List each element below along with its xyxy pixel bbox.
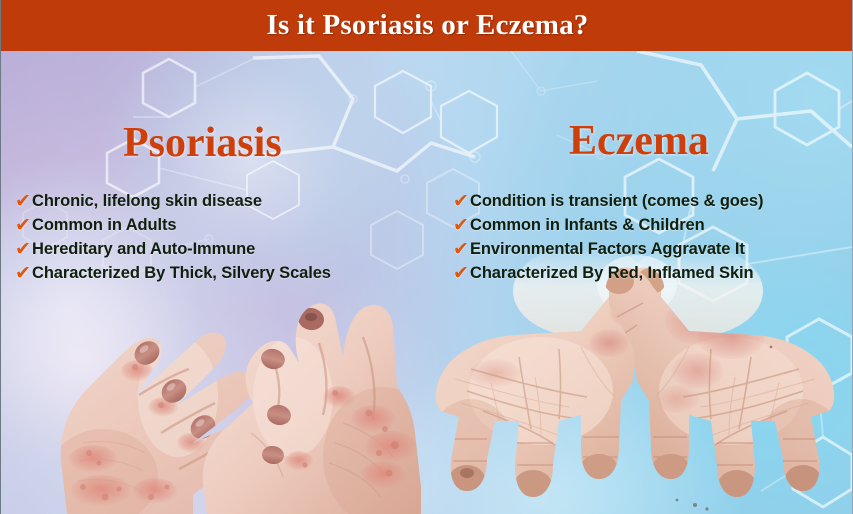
check-mark-icon: ✔ xyxy=(15,190,32,213)
list-item: ✔ Common in Infants & Children xyxy=(453,214,763,237)
list-item: ✔ Characterized By Thick, Silvery Scales xyxy=(15,262,331,285)
check-mark-icon: ✔ xyxy=(453,238,470,261)
bullet-list-psoriasis: ✔ Chronic, lifelong skin disease ✔ Commo… xyxy=(15,190,331,286)
check-mark-icon: ✔ xyxy=(453,214,470,237)
list-item-label: Common in Adults xyxy=(32,214,176,237)
list-item-label: Characterized By Red, Inflamed Skin xyxy=(470,262,754,285)
list-item: ✔ Chronic, lifelong skin disease xyxy=(15,190,331,213)
list-item-label: Hereditary and Auto-Immune xyxy=(32,238,255,261)
list-item: ✔ Environmental Factors Aggravate It xyxy=(453,238,763,261)
list-item: ✔ Condition is transient (comes & goes) xyxy=(453,190,763,213)
eczema-hands-photo xyxy=(431,251,839,514)
list-item-label: Common in Infants & Children xyxy=(470,214,705,237)
column-heading-psoriasis: Psoriasis xyxy=(123,119,282,167)
infographic-canvas: Is it Psoriasis or Eczema? xyxy=(0,0,853,514)
title-bar: Is it Psoriasis or Eczema? xyxy=(1,0,853,51)
check-mark-icon: ✔ xyxy=(15,238,32,261)
list-item: ✔ Hereditary and Auto-Immune xyxy=(15,238,331,261)
list-item-label: Characterized By Thick, Silvery Scales xyxy=(32,262,331,285)
bullet-list-eczema: ✔ Condition is transient (comes & goes) … xyxy=(453,190,763,286)
column-heading-eczema: Eczema xyxy=(569,117,709,165)
list-item: ✔ Common in Adults xyxy=(15,214,331,237)
list-item-label: Environmental Factors Aggravate It xyxy=(470,238,745,261)
check-mark-icon: ✔ xyxy=(453,190,470,213)
list-item: ✔ Characterized By Red, Inflamed Skin xyxy=(453,262,763,285)
check-mark-icon: ✔ xyxy=(15,214,32,237)
list-item-label: Condition is transient (comes & goes) xyxy=(470,190,763,213)
check-mark-icon: ✔ xyxy=(15,262,32,285)
background-stage: Psoriasis Eczema ✔ Chronic, lifelong ski… xyxy=(1,51,852,514)
list-item-label: Chronic, lifelong skin disease xyxy=(32,190,262,213)
page-title: Is it Psoriasis or Eczema? xyxy=(266,9,588,42)
psoriasis-hands-photo xyxy=(43,247,433,514)
check-mark-icon: ✔ xyxy=(453,262,470,285)
